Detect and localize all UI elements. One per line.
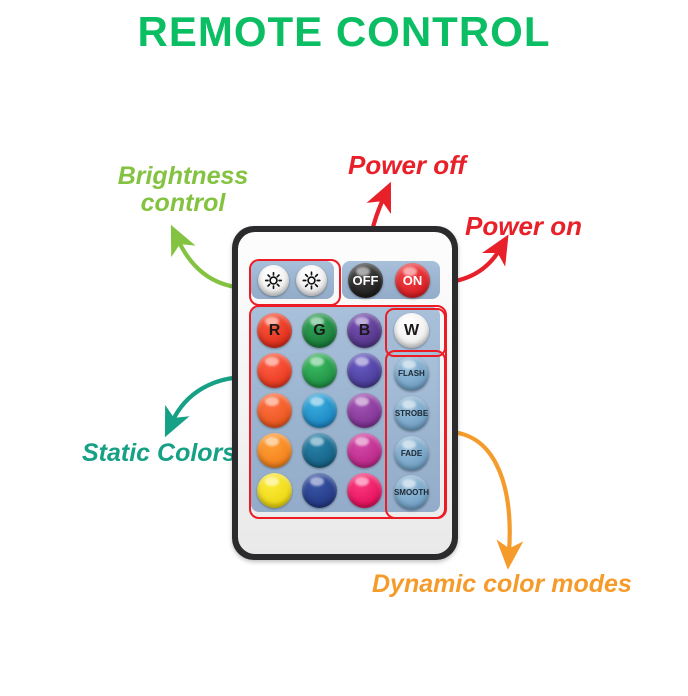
brightness-up-button[interactable]: [296, 265, 327, 296]
sun-bright-icon: [302, 271, 321, 290]
mode-button-fade[interactable]: FADE: [394, 436, 429, 471]
color-button-g-label: G: [313, 322, 325, 340]
power-on-label: ON: [403, 273, 423, 288]
color-button-r[interactable]: R: [257, 313, 292, 348]
annotation-power-off: Power off: [348, 152, 466, 180]
color-swatch-r4c2[interactable]: [302, 433, 337, 468]
color-swatch-r3c1[interactable]: [257, 393, 292, 428]
mode-button-fade-label: FADE: [401, 449, 422, 458]
remote-faceplate: OFF ON R G B W: [238, 232, 452, 554]
annotation-brightness-control: Brightness control: [98, 163, 268, 216]
color-swatch-r5c1[interactable]: [257, 473, 292, 508]
color-swatch-r3c2[interactable]: [302, 393, 337, 428]
color-swatch-r4c3[interactable]: [347, 433, 382, 468]
infographic-canvas: REMOTE CONTROL Brightness control Power …: [0, 0, 688, 696]
color-swatch-r5c2[interactable]: [302, 473, 337, 508]
mode-button-strobe[interactable]: STROBE: [394, 396, 429, 431]
color-button-w-label: W: [404, 322, 419, 340]
power-off-button[interactable]: OFF: [348, 263, 383, 298]
mode-button-smooth[interactable]: SMOOTH: [394, 475, 429, 510]
color-swatch-r4c1[interactable]: [257, 433, 292, 468]
color-button-b-label: B: [359, 322, 371, 340]
color-swatch-r5c3[interactable]: [347, 473, 382, 508]
page-title: REMOTE CONTROL: [0, 8, 688, 56]
color-swatch-r2c3[interactable]: [347, 353, 382, 388]
mode-button-smooth-label: SMOOTH: [394, 488, 429, 497]
annotation-power-on: Power on: [465, 213, 582, 241]
annotation-static-colors: Static Colors: [82, 440, 236, 467]
sun-dim-icon: [264, 271, 283, 290]
color-swatch-r3c3[interactable]: [347, 393, 382, 428]
mode-button-strobe-label: STROBE: [395, 409, 428, 418]
mode-button-flash[interactable]: FLASH: [394, 356, 429, 391]
brightness-down-button[interactable]: [258, 265, 289, 296]
color-button-w[interactable]: W: [394, 313, 429, 348]
mode-button-flash-label: FLASH: [398, 369, 425, 378]
color-button-b[interactable]: B: [347, 313, 382, 348]
power-on-button[interactable]: ON: [395, 263, 430, 298]
color-button-r-label: R: [269, 322, 281, 340]
annotation-dynamic-color-modes: Dynamic color modes: [372, 571, 632, 598]
color-swatch-r2c2[interactable]: [302, 353, 337, 388]
remote-control-device: OFF ON R G B W: [232, 226, 458, 560]
color-button-g[interactable]: G: [302, 313, 337, 348]
color-swatch-r2c1[interactable]: [257, 353, 292, 388]
power-off-label: OFF: [353, 273, 379, 288]
